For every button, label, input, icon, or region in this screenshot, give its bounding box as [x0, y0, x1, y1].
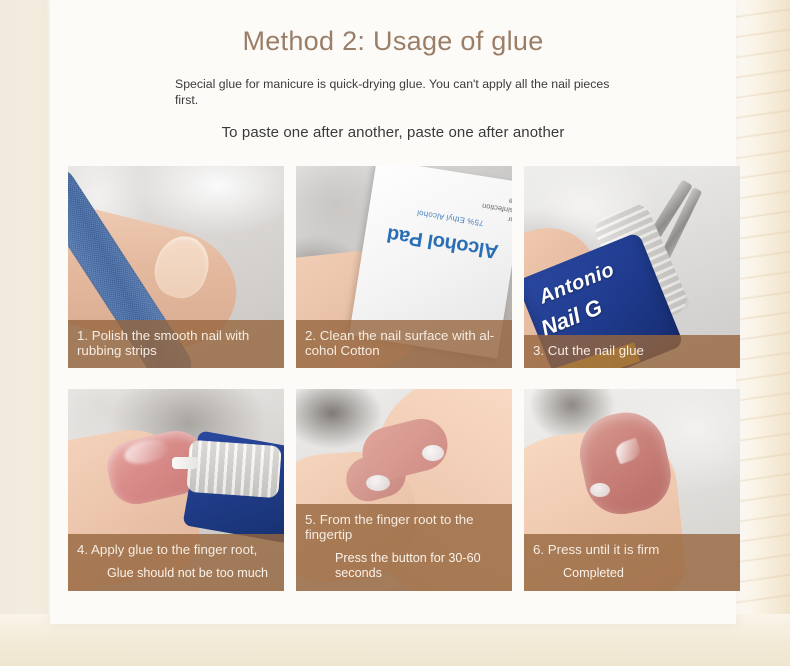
- step-caption-4: 4. Apply glue to the finger root, Glue s…: [68, 534, 284, 591]
- step-card-5[interactable]: 5. From the finger root to the fingertip…: [296, 389, 512, 591]
- step-caption-text: 4. Apply glue to the finger root,: [77, 542, 257, 557]
- page-title: Method 2: Usage of glue: [50, 0, 736, 57]
- tagline-text: To paste one after another, paste one af…: [50, 124, 736, 141]
- step-caption-sub: Glue should not be too much: [107, 566, 275, 580]
- glue-blob-left: [366, 475, 390, 491]
- step-card-6[interactable]: 6. Press until it is firm Completed: [524, 389, 740, 591]
- nozzle-ridges: [186, 440, 281, 498]
- step-card-2[interactable]: Alcohol Pad 75% Ethyl Alcohol For Disinf…: [296, 166, 512, 368]
- step-card-3[interactable]: Antonio Nail G 3. Cut the nail glue: [524, 166, 740, 368]
- step-card-4[interactable]: 4. Apply glue to the finger root, Glue s…: [68, 389, 284, 591]
- step-card-1[interactable]: 1. Polish the smooth nail with rubbing s…: [68, 166, 284, 368]
- step-caption-5: 5. From the finger root to the fingertip…: [296, 504, 512, 591]
- intro-paragraph: Special glue for manicure is quick-dryin…: [175, 77, 619, 108]
- step-caption-6: 6. Press until it is firm Completed: [524, 534, 740, 591]
- step-caption-1: 1. Polish the smooth nail with rubbing s…: [68, 320, 284, 368]
- step-caption-2: 2. Clean the nail surface with al-cohol …: [296, 320, 512, 368]
- step-caption-text: 3. Cut the nail glue: [533, 343, 644, 358]
- step-caption-sub: Completed: [563, 566, 731, 580]
- step-caption-text: 1. Polish the smooth nail with rubbing s…: [77, 328, 249, 359]
- step-caption-text: 2. Clean the nail surface with al-cohol …: [305, 328, 494, 359]
- step-caption-text: 6. Press until it is firm: [533, 542, 659, 557]
- packet-brand-label: Alcohol Pad: [386, 222, 500, 262]
- glue-nozzle-tip: [172, 457, 198, 469]
- step-caption-sub: Press the button for 30-60 seconds: [335, 551, 503, 580]
- step-caption-text: 5. From the finger root to the fingertip: [305, 512, 474, 543]
- glue-nozzle-shape: [186, 440, 281, 498]
- step-caption-3: 3. Cut the nail glue: [524, 335, 740, 368]
- content-card: Method 2: Usage of glue Special glue for…: [50, 0, 736, 624]
- glue-blob-right: [422, 445, 444, 461]
- glue-droplet: [590, 483, 610, 497]
- steps-grid: 1. Polish the smooth nail with rubbing s…: [68, 166, 718, 591]
